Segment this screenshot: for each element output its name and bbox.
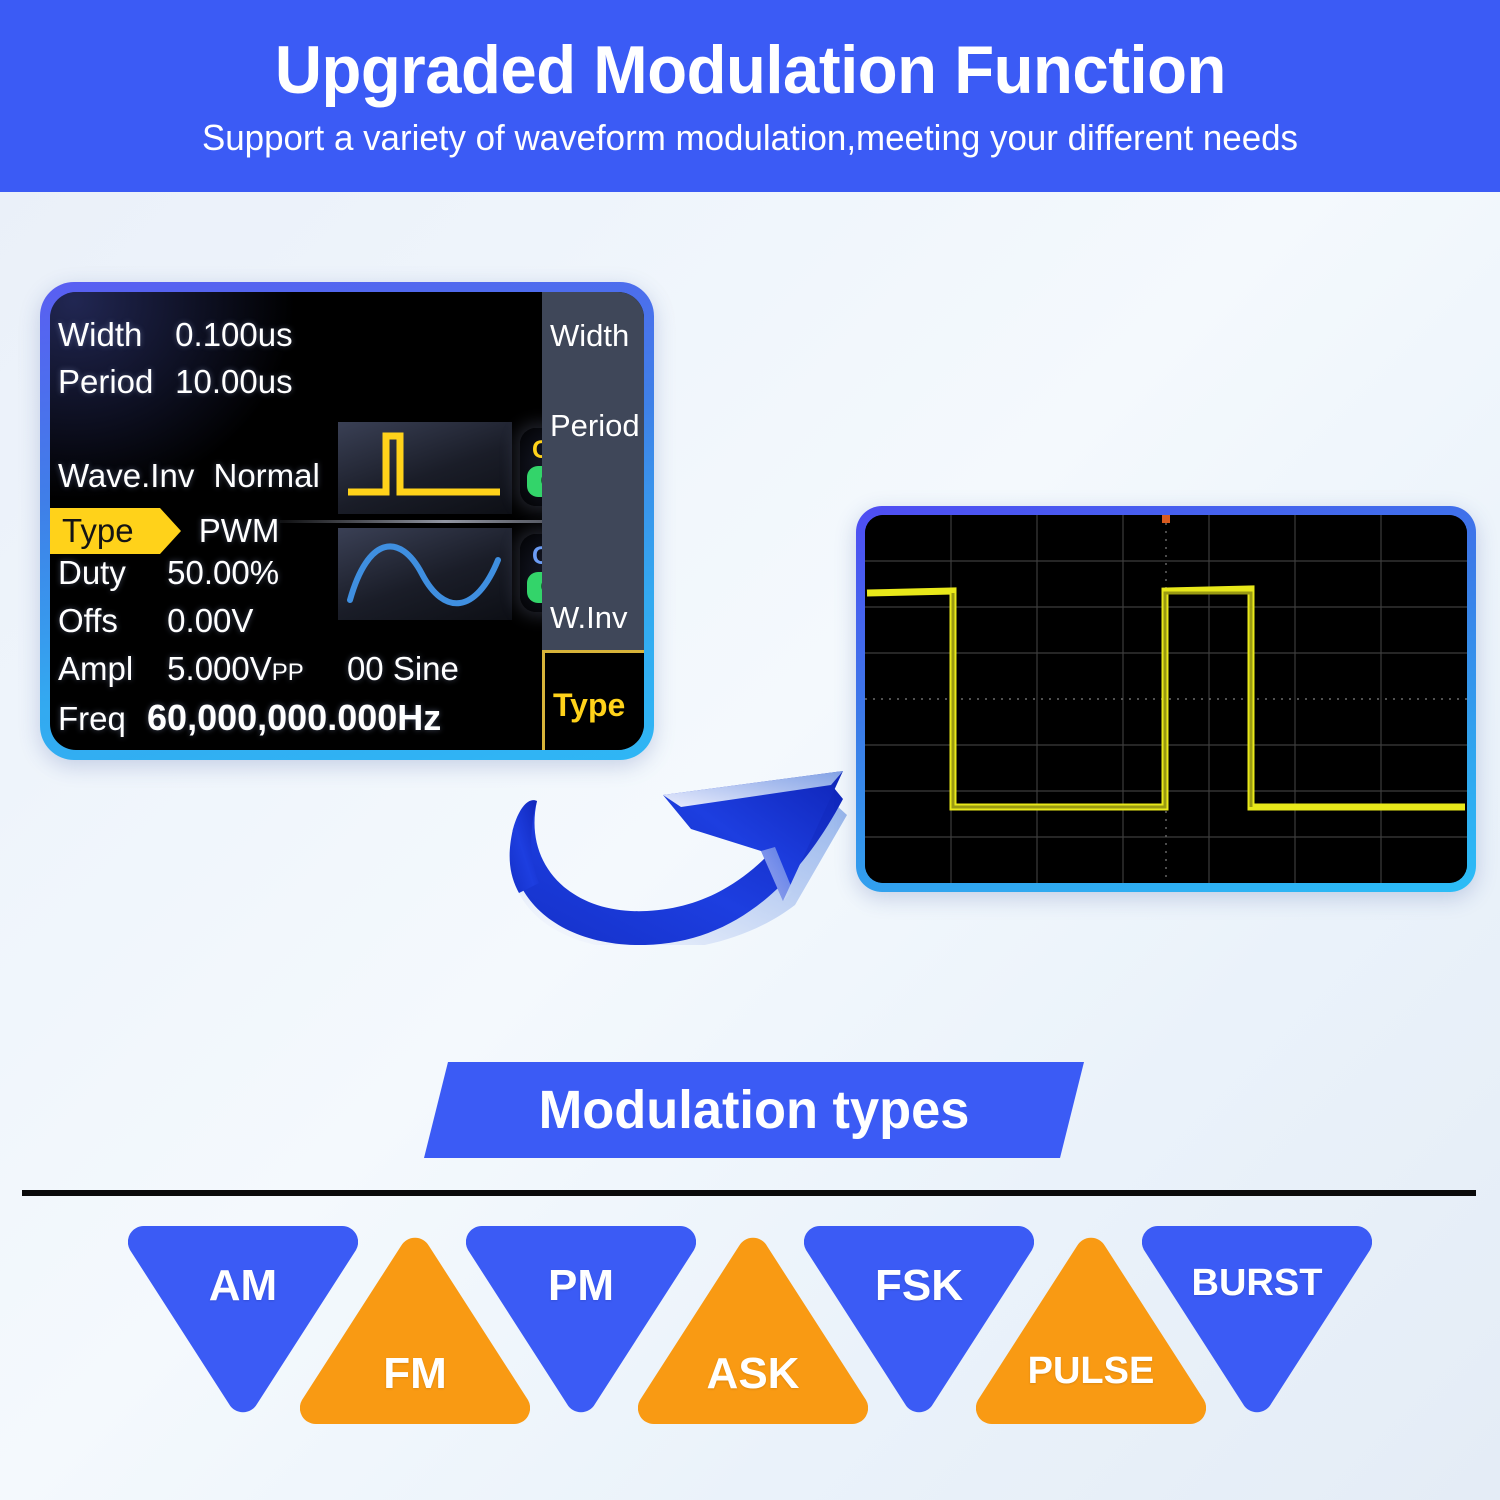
param-row-width[interactable]: Width 0.100us: [58, 318, 293, 351]
param-value-type: PWM: [199, 514, 280, 547]
scope-grid: [865, 515, 1467, 883]
header-banner: Upgraded Modulation Function Support a v…: [0, 0, 1500, 192]
ch2-waveform-preview: [338, 528, 512, 620]
param-value-waveinv: Normal: [214, 459, 320, 492]
param-value-period: 10.00us: [175, 365, 292, 398]
param-row-duty[interactable]: Duty 50.00%: [58, 556, 279, 589]
param-row-offs[interactable]: Offs 0.00V: [58, 604, 253, 637]
param-value-width: 0.100us: [175, 318, 292, 351]
scope-screen: [865, 515, 1467, 883]
modulation-types-banner: Modulation types: [424, 1062, 1084, 1158]
modulation-badge-burst[interactable]: BURST: [1142, 1222, 1372, 1418]
param-label-duty: Duty: [58, 556, 158, 589]
softkey-type[interactable]: Type: [542, 650, 644, 750]
modulation-types-label: Modulation types: [539, 1083, 970, 1137]
waveform-index-label: 00 Sine: [347, 650, 459, 687]
pulse-waveform-icon: [338, 422, 512, 514]
modulation-type-list: AM FM PM ASK FSK PULSE BURST: [0, 1218, 1500, 1418]
trigger-marker: [1162, 515, 1170, 523]
curved-arrow-icon: [495, 755, 865, 945]
param-label-width: Width: [58, 318, 166, 351]
param-row-type[interactable]: Type PWM: [50, 508, 279, 554]
softkey-period[interactable]: Period: [542, 410, 644, 441]
page-subtitle: Support a variety of waveform modulation…: [202, 120, 1298, 156]
modulation-label-burst: BURST: [1142, 1264, 1372, 1302]
param-value-freq: 60,000,000.000Hz: [147, 700, 441, 736]
param-label-type-highlighted: Type: [50, 508, 160, 554]
page-title: Upgraded Modulation Function: [274, 36, 1225, 104]
param-row-ampl[interactable]: Ampl 5.000VPP 00 Sine: [58, 652, 459, 685]
param-unit-ampl: PP: [272, 659, 304, 686]
sine-waveform-icon: [338, 528, 512, 620]
section-divider: [22, 1190, 1476, 1196]
param-value-duty: 50.00%: [167, 556, 279, 589]
param-row-period[interactable]: Period 10.00us: [58, 365, 293, 398]
param-label-waveinv: Wave.Inv: [58, 459, 194, 492]
softkey-winv[interactable]: W.Inv: [542, 602, 644, 633]
param-row-freq[interactable]: Freq 60,000,000.000Hz: [58, 700, 441, 736]
generator-screen: Width 0.100us Period 10.00us Wave.Inv No…: [50, 292, 644, 750]
signal-generator-display: Width 0.100us Period 10.00us Wave.Inv No…: [40, 282, 654, 760]
param-label-offs: Offs: [58, 604, 158, 637]
param-row-waveinv[interactable]: Wave.Inv Normal: [58, 459, 320, 492]
softkey-column: Width Period W.Inv Type: [542, 292, 644, 750]
param-value-offs: 0.00V: [167, 604, 253, 637]
triangle-down-icon: [1142, 1222, 1372, 1418]
ch1-waveform-preview: [338, 422, 512, 514]
oscilloscope-display: [856, 506, 1476, 892]
softkey-width[interactable]: Width: [542, 320, 644, 351]
param-label-ampl: Ampl: [58, 652, 158, 685]
param-label-period: Period: [58, 365, 166, 398]
param-label-freq: Freq: [58, 702, 126, 735]
param-value-ampl: 5.000V: [167, 652, 272, 685]
